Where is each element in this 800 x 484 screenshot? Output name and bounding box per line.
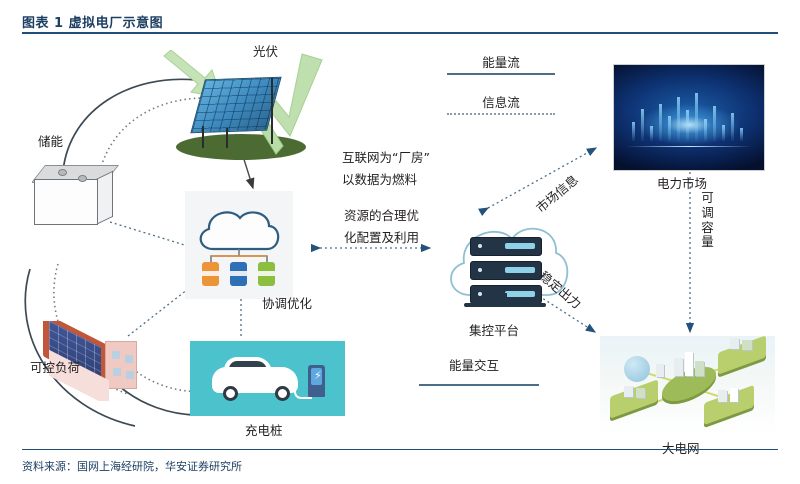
- annotation-energy-interaction-line: [419, 384, 539, 386]
- grid-dome-icon: [624, 356, 650, 382]
- house-window: [113, 368, 121, 376]
- car-wheel: [223, 386, 238, 401]
- pv-leg: [271, 78, 273, 144]
- node-orange: [202, 262, 219, 286]
- annotation-coordinated-optimization: 协调优化: [262, 296, 312, 313]
- grid-building: [695, 361, 704, 376]
- car-wheel: [275, 386, 290, 401]
- figure-source: 资料来源：国网上海经研院，华安证券研究所: [22, 458, 242, 474]
- grid-building: [636, 388, 645, 398]
- charging-pile-image: ⚡: [190, 341, 345, 416]
- legend-information-flow: 信息流: [447, 92, 555, 115]
- pv-illustration: [150, 50, 330, 168]
- grid-building: [685, 352, 693, 376]
- pv-leg: [226, 128, 228, 148]
- battery-body: [34, 179, 98, 225]
- annotation-adjustable-capacity: 可调容量: [700, 191, 715, 250]
- annotation-resource-optimization-line2: 化配置及利用: [344, 230, 419, 247]
- annotation-internet-factory-line2: 以数据为燃料: [342, 172, 417, 189]
- charger-unit: ⚡: [308, 365, 325, 397]
- grid-island: [704, 385, 754, 425]
- battery-terminal: [78, 175, 87, 182]
- node-label-cloud-platform: 集控平台: [469, 323, 519, 340]
- large-grid-image: [600, 336, 775, 436]
- grid-building: [718, 390, 727, 402]
- house-window: [125, 355, 133, 363]
- house-window: [126, 371, 134, 379]
- legend-energy-flow-label: 能量流: [447, 52, 555, 71]
- grid-building: [730, 338, 739, 349]
- pv-leg: [202, 126, 204, 148]
- market-reflection: [626, 146, 752, 147]
- market-bars: [614, 93, 764, 140]
- grid-building: [624, 386, 633, 397]
- house-gable-wall: [105, 341, 137, 389]
- grid-building: [730, 388, 738, 402]
- node-label-charging-pile: 充电桩: [245, 423, 283, 440]
- node-blue: [230, 262, 247, 286]
- battery-terminal: [58, 169, 67, 176]
- node-label-controllable-load: 可控负荷: [24, 359, 86, 377]
- header-divider: [22, 32, 778, 34]
- battery-side: [96, 171, 113, 225]
- page-title: 图表 1 虚拟电厂示意图: [22, 12, 163, 31]
- annotation-internet-factory-line1: 互联网为“厂房”: [342, 150, 430, 167]
- node-label-storage: 储能: [38, 134, 63, 151]
- grid-building: [656, 364, 664, 377]
- battery-icon: [32, 161, 120, 233]
- diagram-canvas: 能量流 信息流 光伏 储能: [0, 36, 800, 446]
- node-green: [258, 262, 275, 286]
- figure-page: 图表 1 虚拟电厂示意图: [0, 0, 800, 484]
- lightning-bolt-icon: ⚡: [314, 370, 322, 381]
- cloud-network-icon: [185, 191, 293, 299]
- control-platform-icon: [440, 211, 570, 321]
- grid-building: [674, 358, 683, 376]
- node-label-pv: 光伏: [253, 44, 278, 61]
- server-rack: [470, 237, 542, 256]
- server-base: [464, 303, 546, 307]
- server-rack: [470, 261, 542, 280]
- annotation-resource-optimization-line1: 资源的合理优: [344, 208, 419, 225]
- house-window: [112, 351, 120, 359]
- solar-panel-icon: [190, 77, 281, 134]
- footer-divider: [22, 449, 778, 450]
- power-market-image: [613, 64, 765, 171]
- grid-building: [742, 340, 752, 350]
- annotation-energy-interaction: 能量交互: [449, 358, 499, 375]
- grid-island: [610, 379, 658, 418]
- legend-energy-flow: 能量流: [447, 52, 555, 75]
- legend-energy-flow-line: [447, 73, 555, 75]
- legend-information-flow-line: [447, 113, 555, 115]
- legend-information-flow-label: 信息流: [447, 92, 555, 111]
